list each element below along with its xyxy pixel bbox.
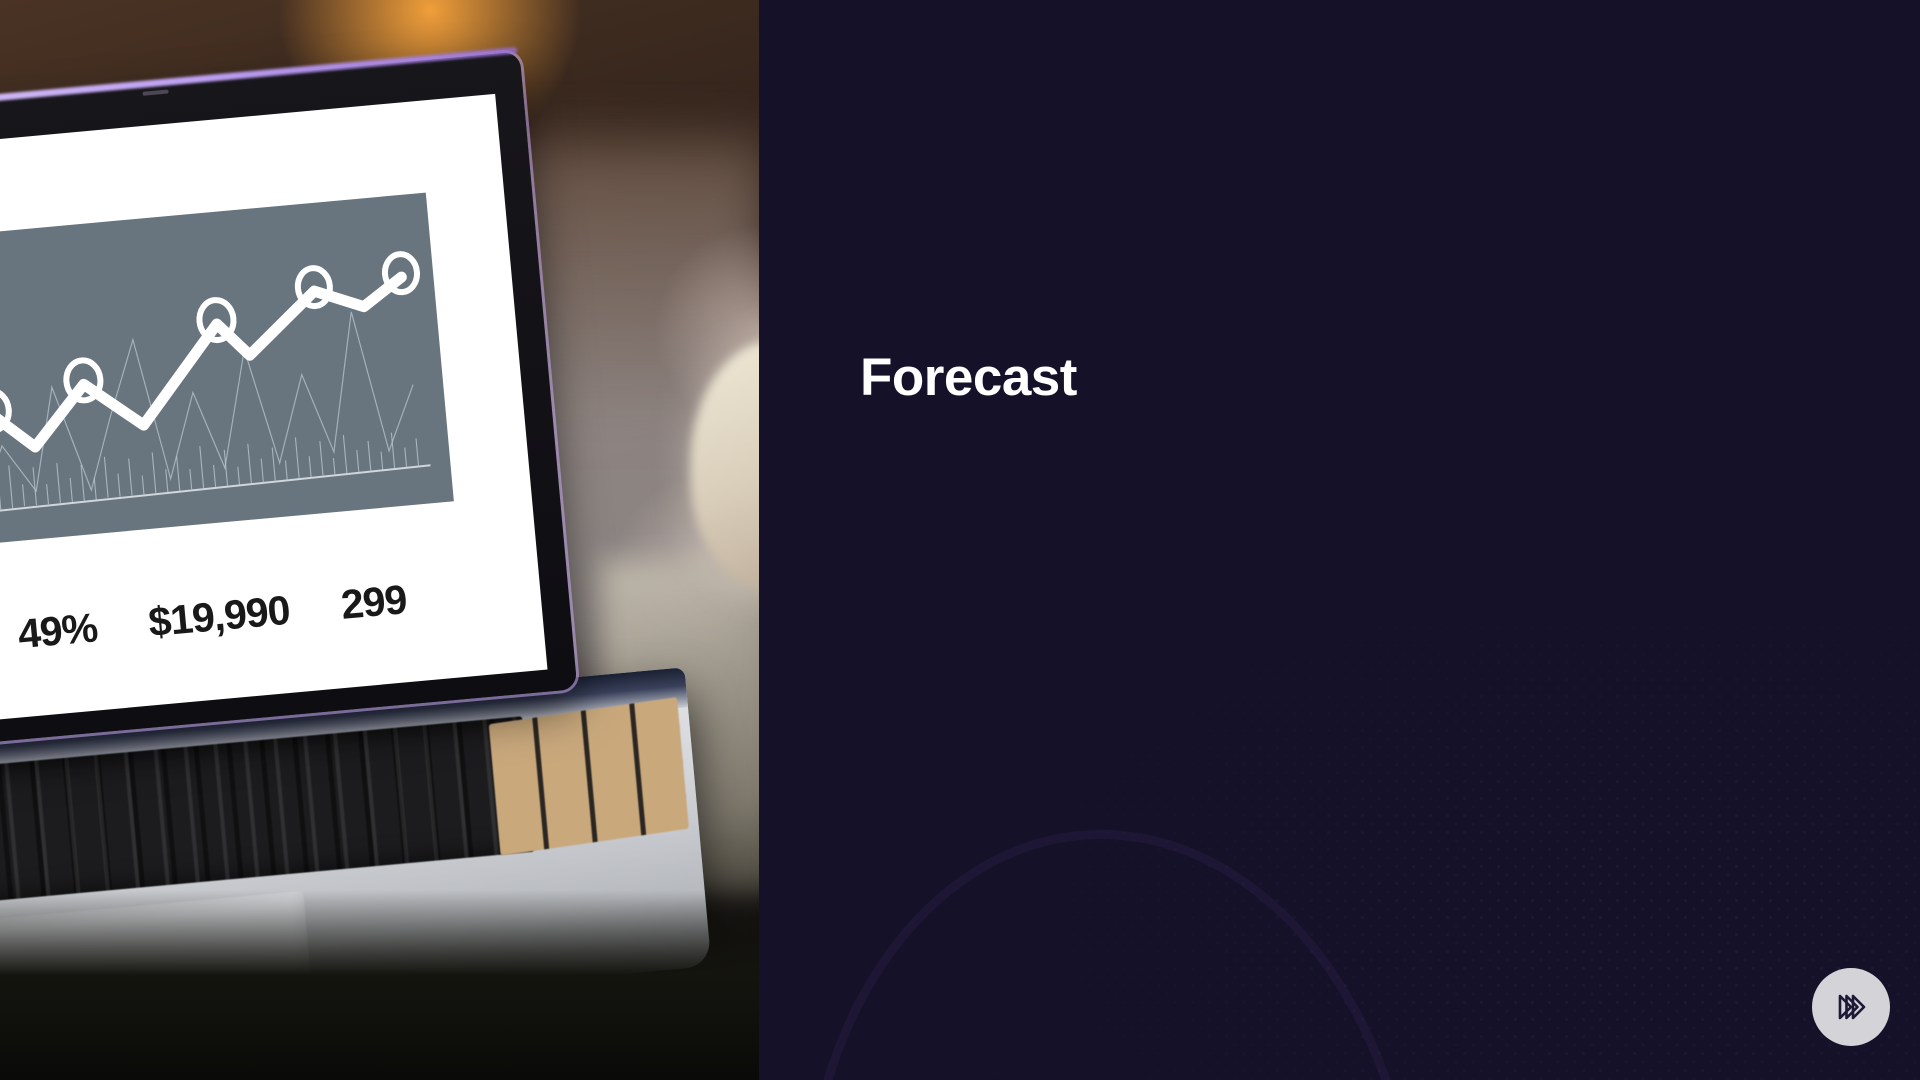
desk-surface (0, 890, 759, 1080)
slide-title: Forecast (860, 348, 1077, 407)
metric-orders: 299 (339, 579, 408, 626)
metric-revenue: $19,990 (147, 590, 291, 644)
metric-conversion-rate: 49% (16, 607, 98, 655)
prezi-badge-button[interactable] (1812, 968, 1890, 1046)
prezi-play-icon (1829, 985, 1873, 1029)
laptop-screen: 199 (0, 94, 547, 736)
laptop-lid: 199 (0, 52, 577, 761)
line-chart-svg (0, 193, 454, 558)
presentation-slide: 199 (0, 0, 1920, 1080)
webcam-icon (142, 90, 168, 96)
laptop-dashboard-photo: 199 (0, 0, 759, 1080)
dashboard-line-chart (0, 193, 454, 558)
dashboard-metric-row: 199 (0, 534, 522, 671)
decorative-arc (779, 814, 1420, 1080)
keyboard-accent-keys (489, 697, 689, 856)
decorative-dot-pattern (980, 620, 1920, 1080)
